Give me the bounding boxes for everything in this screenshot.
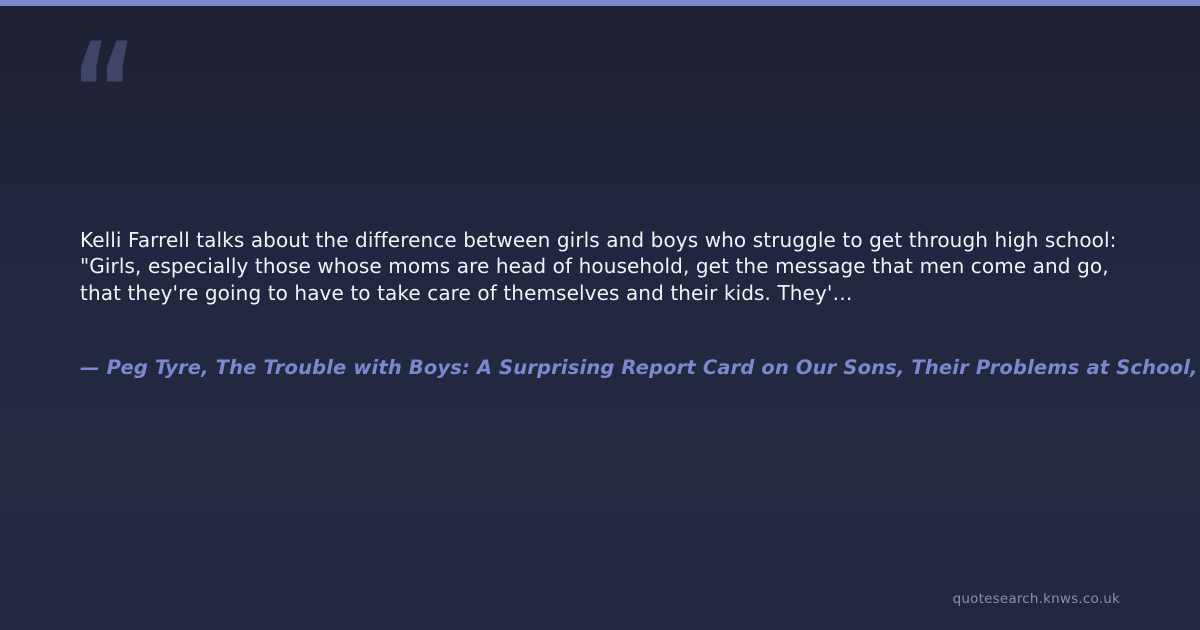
quote-attribution: — Peg Tyre, The Trouble with Boys: A Sur… <box>80 355 1200 381</box>
attribution-row: — Peg Tyre, The Trouble with Boys: A Sur… <box>80 355 1200 381</box>
quotation-mark-icon <box>80 40 132 82</box>
top-accent-bar <box>0 0 1200 6</box>
source-site-label: quotesearch.knws.co.uk <box>953 590 1120 608</box>
quote-card: Kelli Farrell talks about the difference… <box>0 0 1200 630</box>
quote-text: Kelli Farrell talks about the difference… <box>80 227 1120 306</box>
